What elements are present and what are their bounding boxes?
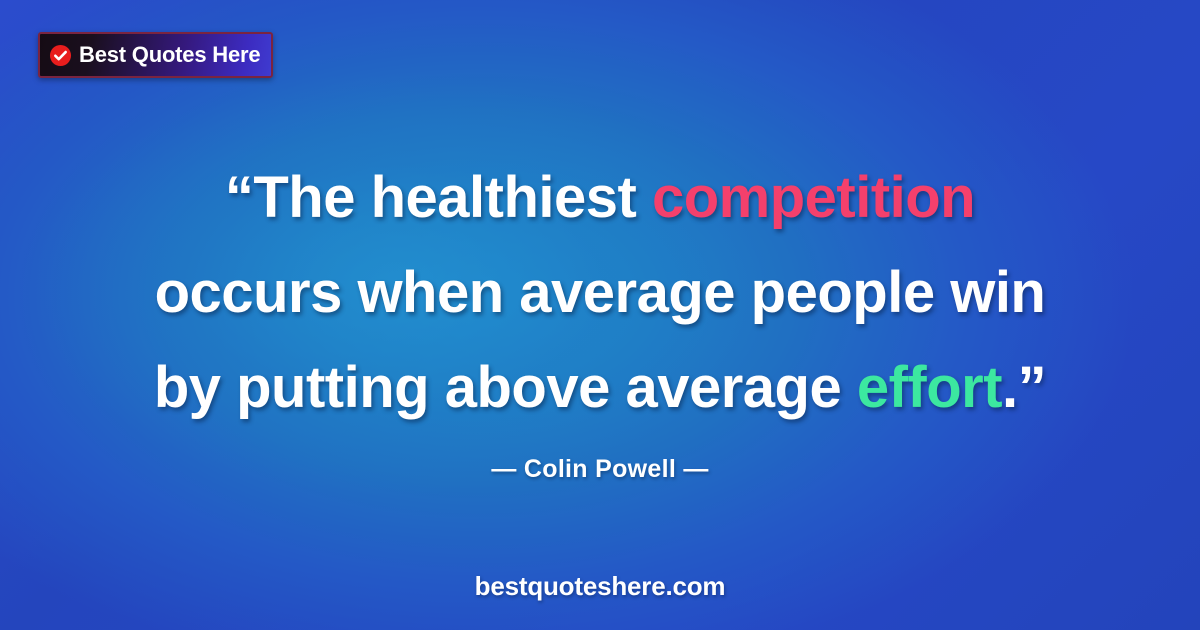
quote-line-1: “The healthiest competition	[60, 150, 1140, 245]
brand-badge-label: Best Quotes Here	[79, 44, 260, 66]
site-url-label: bestquoteshere.com	[0, 571, 1200, 602]
quote-card: Best Quotes Here “The healthiest competi…	[0, 0, 1200, 630]
quote-line-3-segment-1: by putting above average	[154, 355, 857, 420]
quote-line-3: by putting above average effort.”	[60, 340, 1140, 435]
quote-line-2: occurs when average people win	[60, 245, 1140, 340]
brand-badge[interactable]: Best Quotes Here	[38, 32, 273, 78]
quote-attribution: — Colin Powell —	[0, 455, 1200, 484]
quote-highlight-competition: competition	[652, 165, 975, 230]
quote-text-block: “The healthiest competition occurs when …	[0, 150, 1200, 435]
quote-line-2-segment-1: occurs when average people win	[155, 260, 1046, 325]
quote-highlight-effort: effort	[857, 355, 1002, 420]
quote-line-1-segment-1: “The healthiest	[225, 165, 652, 230]
verified-check-icon	[49, 44, 72, 67]
quote-line-3-segment-3: .”	[1002, 355, 1046, 420]
